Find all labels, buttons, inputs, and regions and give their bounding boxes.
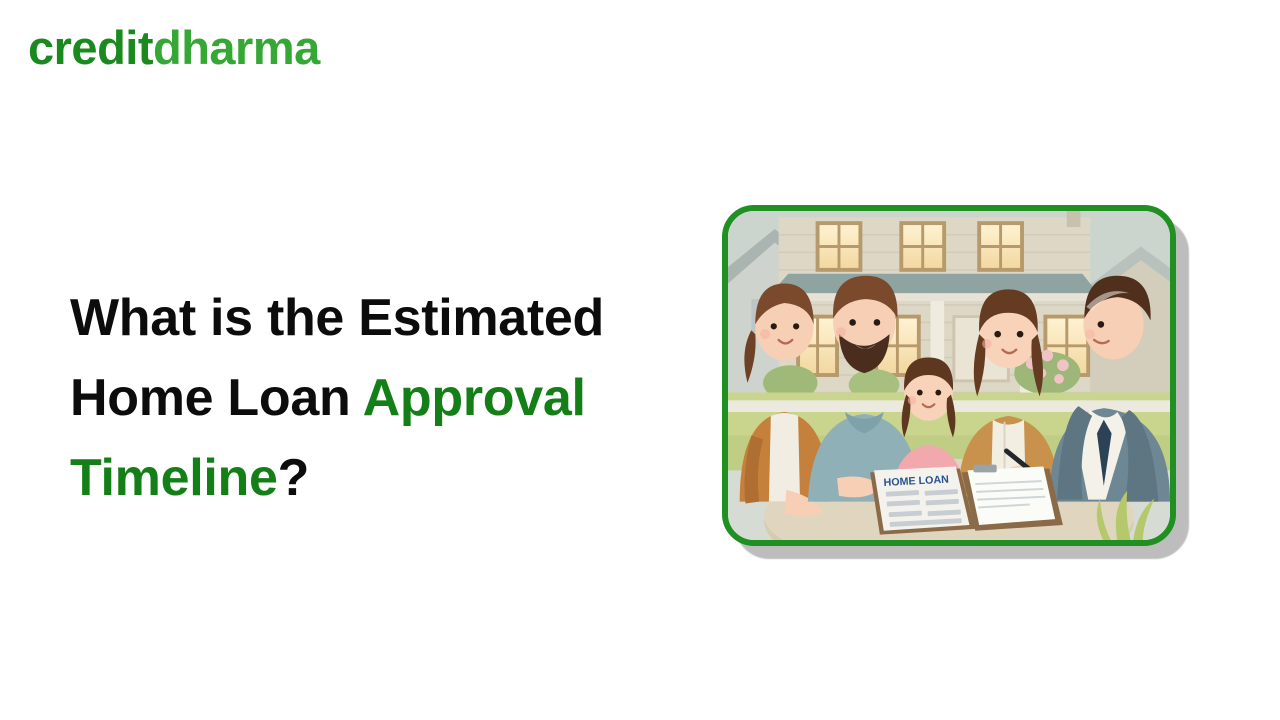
illustration-frame: HOME LOAN [722,205,1176,546]
page-title: What is the Estimated Home Loan Approval… [70,278,670,518]
clipboard [962,465,1063,531]
home-loan-document: HOME LOAN [870,467,975,535]
headline-line-1: What is the Estimated [70,278,670,358]
family-loan-meeting-illustration: HOME LOAN [728,211,1170,540]
headline-line2-green: Approval [363,369,586,427]
brand-logo-credit: credit [28,21,153,74]
brand-logo-dharma: dharma [153,21,320,74]
headline-line3-green: Timeline [70,449,278,507]
headline-line2-black: Home Loan [70,369,363,427]
headline-line-2: Home Loan Approval [70,358,670,438]
brand-logo[interactable]: creditdharma [28,22,320,74]
headline-line1-text: What is the Estimated [70,289,604,347]
headline-line3-question-mark: ? [278,449,309,507]
slide-root: creditdharma What is the Estimated Home … [0,0,1280,720]
headline-line-3: Timeline? [70,438,670,518]
